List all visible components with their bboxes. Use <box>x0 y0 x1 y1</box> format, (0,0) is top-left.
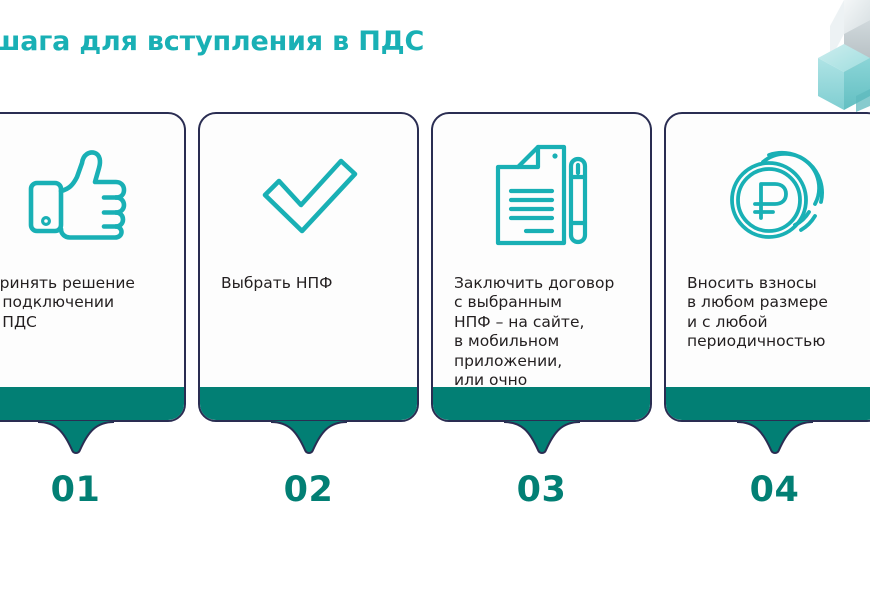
thumbs-up-icon <box>0 140 184 250</box>
card-body-03: Заключить договор с выбранным НПФ – на с… <box>431 112 652 422</box>
card-body-01: Принять решение о подключении к ПДС <box>0 112 186 422</box>
card-footer-04 <box>666 387 870 420</box>
step-number-02: 02 <box>198 470 419 510</box>
checkmark-icon <box>200 140 417 250</box>
card-footer-02 <box>200 387 417 420</box>
page-title: 4 шага для вступления в ПДС <box>0 26 424 57</box>
ruble-coins-icon <box>666 140 870 250</box>
step-number-01: 01 <box>0 470 186 510</box>
card-tail-01 <box>0 420 186 466</box>
card-footer-01 <box>0 387 184 420</box>
card-body-02: Выбрать НПФ <box>198 112 419 422</box>
cube-upper-gray <box>830 0 870 76</box>
card-footer-03 <box>433 387 650 420</box>
step-card-01[interactable]: Принять решение о подключении к ПДС 01 <box>0 112 186 422</box>
card-tail-04 <box>664 420 870 466</box>
isometric-cubes-decoration <box>778 0 870 112</box>
card-body-04: Вносить взносы в любом размере и с любой… <box>664 112 870 422</box>
step-card-02[interactable]: Выбрать НПФ 02 <box>198 112 419 422</box>
step-text-01: Принять решение о подключении к ПДС <box>0 274 172 332</box>
step-text-03: Заключить договор с выбранным НПФ – на с… <box>454 274 638 391</box>
card-tail-03 <box>431 420 652 466</box>
step-number-03: 03 <box>431 470 652 510</box>
step-text-04: Вносить взносы в любом размере и с любой… <box>687 274 870 352</box>
card-tail-02 <box>198 420 419 466</box>
step-number-04: 04 <box>664 470 870 510</box>
step-card-04[interactable]: Вносить взносы в любом размере и с любой… <box>664 112 870 422</box>
document-pen-icon <box>433 140 650 250</box>
cube-accent-sliver <box>856 89 870 112</box>
step-text-02: Выбрать НПФ <box>221 274 405 293</box>
steps-row: Принять решение о подключении к ПДС 01 В… <box>0 112 870 422</box>
cube-lower-teal <box>818 44 870 110</box>
step-card-03[interactable]: Заключить договор с выбранным НПФ – на с… <box>431 112 652 422</box>
